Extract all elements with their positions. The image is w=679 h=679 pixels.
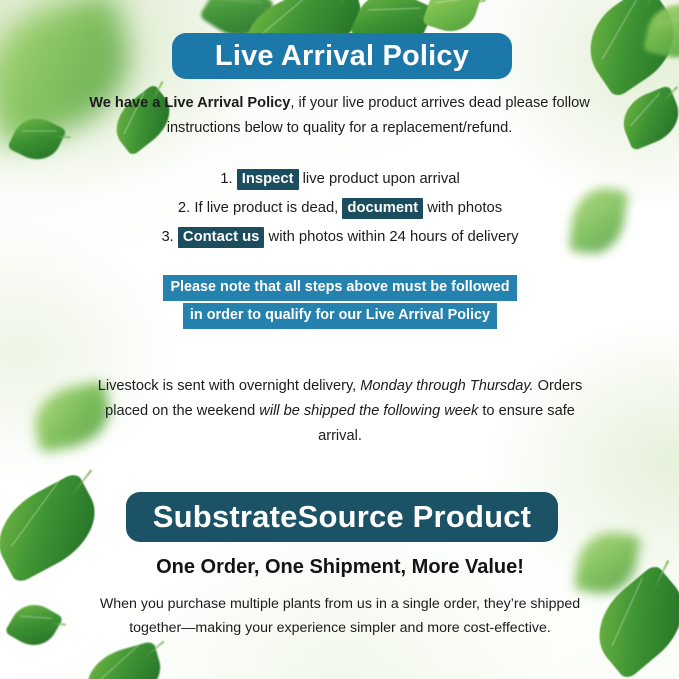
leaf-stem [627, 543, 647, 550]
value-body-paragraph: When you purchase multiple plants from u… [80, 592, 600, 640]
livestock-seg-1: Livestock is sent with overnight deliver… [98, 378, 361, 394]
leaf-vein [630, 93, 661, 127]
step-1-highlight: Inspect [237, 169, 299, 190]
leaf-stem [470, 0, 486, 3]
step-2-pre: If live product is dead, [190, 200, 342, 216]
live-arrival-policy-banner-label: Live Arrival Policy [215, 40, 469, 73]
leaf-stem [645, 0, 663, 9]
step-3-number: 3. [161, 229, 173, 245]
leaf-blade [615, 85, 679, 151]
leaf-upper-right-edge-icon [643, 0, 679, 64]
intro-lead-bold: We have a Live Arrival Policy [89, 95, 290, 111]
leaf-stem [663, 86, 678, 101]
step-2-highlight: document [342, 198, 423, 219]
leaf-stem [69, 469, 92, 498]
leaf-top-right-icon [572, 0, 679, 99]
leaf-vein [218, 0, 262, 3]
policy-step-3: 3. Contact us with photos within 24 hour… [60, 223, 620, 252]
leaf-stem [51, 622, 66, 625]
live-arrival-policy-banner: Live Arrival Policy [172, 33, 512, 79]
leaf-vein [369, 8, 421, 11]
leaf-vein [43, 386, 89, 423]
livestock-seg-4-italic: will be shipped the following week [259, 403, 478, 419]
policy-step-1: 1. Inspect live product upon arrival [60, 165, 620, 194]
leaf-vein [611, 577, 643, 646]
step-2-number: 2. [178, 200, 190, 216]
substratesource-product-banner: SubstrateSource Product [126, 492, 558, 542]
leaf-vein [96, 644, 140, 679]
step-2-post: with photos [423, 200, 502, 216]
policy-infographic-page: Live Arrival Policy We have a Live Arriv… [0, 0, 679, 679]
leaf-stem [336, 0, 369, 5]
value-headline: One Order, One Shipment, More Value! [60, 556, 620, 579]
leaf-vein [21, 131, 56, 132]
step-3-highlight: Contact us [178, 227, 264, 248]
intro-paragraph: We have a Live Arrival Policy, if your l… [72, 91, 607, 141]
leaf-stem [417, 15, 440, 17]
policy-steps-list: 1. Inspect live product upon arrival 2. … [60, 165, 620, 252]
leaf-blade [80, 641, 167, 679]
leaf-vein [260, 0, 330, 36]
leaf-stem [143, 641, 164, 659]
leaf-vein [11, 481, 59, 547]
leaf-left-small-icon [7, 110, 67, 168]
leaf-blade [572, 0, 679, 99]
leaf-vein [602, 0, 638, 60]
policy-note-block: Please note that all steps above must be… [60, 275, 620, 331]
livestock-seg-2-italic: Monday through Thursday. [360, 378, 533, 394]
step-1-post: live product upon arrival [299, 171, 460, 187]
leaf-vein [20, 616, 53, 620]
leaf-blade [7, 110, 67, 168]
livestock-shipping-paragraph: Livestock is sent with overnight deliver… [92, 374, 588, 449]
leaf-vein [656, 14, 679, 26]
leaf-blade [4, 596, 63, 654]
substratesource-product-banner-label: SubstrateSource Product [153, 499, 531, 535]
policy-note-line-1: Please note that all steps above must be… [163, 275, 516, 301]
leaf-blade [643, 0, 679, 64]
leaf-right-mid-icon [615, 85, 679, 151]
leaf-vein [2, 6, 85, 86]
step-3-post: with photos within 24 hours of delivery [264, 229, 518, 245]
step-1-number: 1. [220, 171, 232, 187]
leaf-bottom-left-icon [80, 641, 167, 679]
leaf-stem [259, 8, 279, 12]
policy-note-line-2: in order to qualify for our Live Arrival… [183, 303, 497, 329]
leaf-stem [92, 0, 131, 28]
policy-step-2: 2. If live product is dead, document wit… [60, 194, 620, 223]
leaf-left-lower-small-icon [4, 596, 63, 654]
leaf-stem [653, 560, 669, 590]
leaf-stem [55, 136, 71, 138]
leaf-vein [435, 0, 471, 4]
